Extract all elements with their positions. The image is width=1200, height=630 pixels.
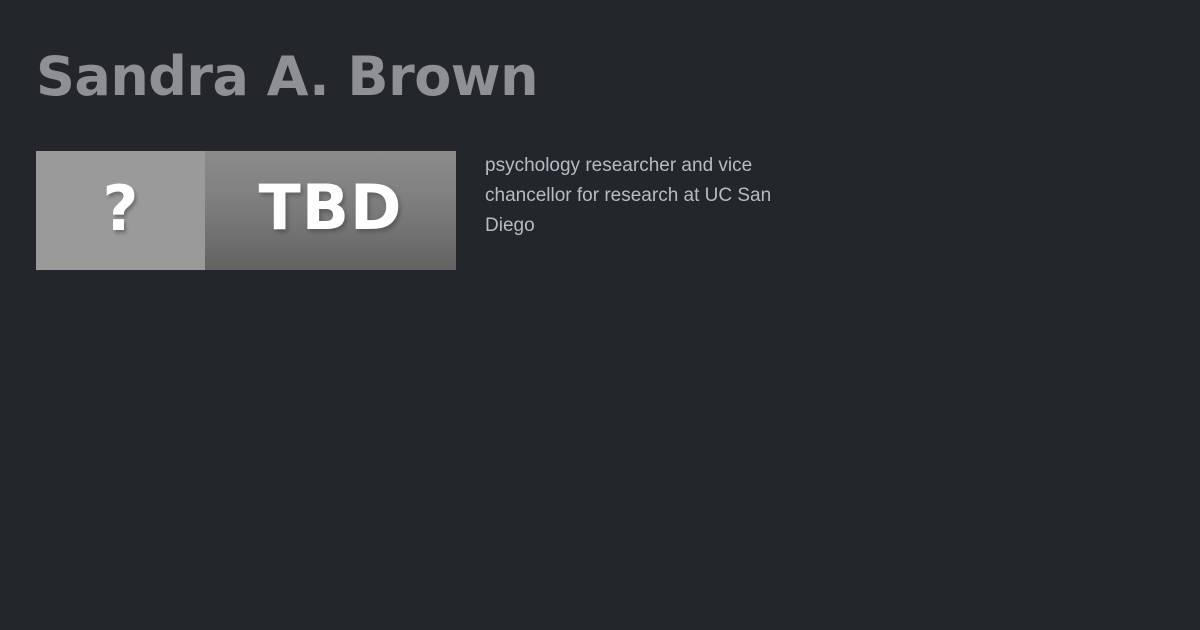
entity-summary-row: ? TBD psychology researcher and vice cha…: [36, 151, 1166, 270]
tbd-label: TBD: [258, 177, 402, 239]
entity-description: psychology researcher and vice chancello…: [485, 151, 817, 241]
placeholder-question-panel: ?: [36, 151, 205, 270]
question-mark-icon: ?: [103, 178, 139, 240]
page-title: Sandra A. Brown: [36, 49, 538, 106]
entity-card-page: Sandra A. Brown ? TBD psychology researc…: [0, 0, 1200, 630]
description-column: psychology researcher and vice chancello…: [485, 151, 817, 241]
placeholder-tbd-panel: TBD: [205, 151, 456, 270]
image-placeholder[interactable]: ? TBD: [36, 151, 456, 270]
